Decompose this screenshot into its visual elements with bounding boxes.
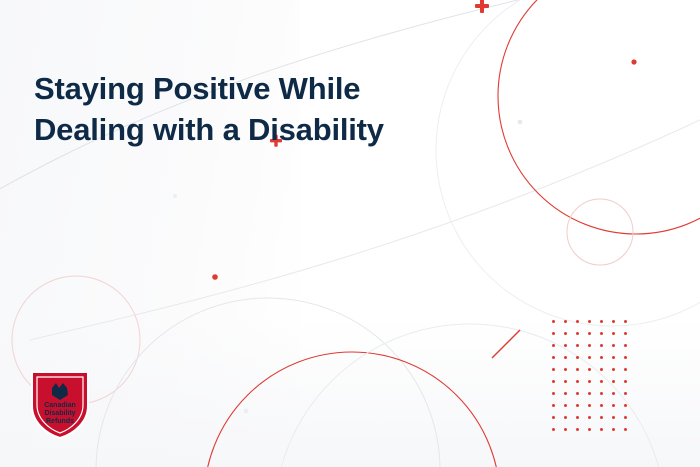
- logo-line1: Canadian: [44, 402, 76, 409]
- logo-line2: Disability: [44, 410, 75, 417]
- banner-card: Staying Positive While Dealing with a Di…: [0, 0, 700, 467]
- page-title: Staying Positive While Dealing with a Di…: [34, 69, 504, 151]
- dot-grid-icon: [552, 320, 630, 430]
- logo-line3: Refunds: [46, 418, 74, 425]
- logo[interactable]: Canadian Disability Refunds: [28, 366, 92, 442]
